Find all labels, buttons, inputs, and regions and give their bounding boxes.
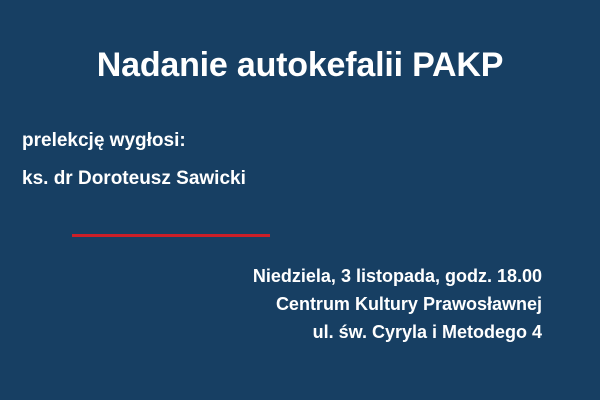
event-venue: Centrum Kultury Prawosławnej (253, 291, 542, 319)
page-title: Nadanie autokefalii PAKP (0, 46, 600, 85)
speaker-block: prelekcję wygłosi: ks. dr Doroteusz Sawi… (22, 128, 246, 191)
speaker-name: ks. dr Doroteusz Sawicki (22, 166, 246, 192)
speaker-intro-label: prelekcję wygłosi: (22, 128, 246, 154)
accent-divider (72, 234, 270, 237)
event-date-time: Niedziela, 3 listopada, godz. 18.00 (253, 263, 542, 291)
event-details: Niedziela, 3 listopada, godz. 18.00 Cent… (253, 263, 542, 347)
event-address: ul. św. Cyryla i Metodego 4 (253, 319, 542, 347)
event-poster: Nadanie autokefalii PAKP prelekcję wygło… (0, 0, 600, 400)
